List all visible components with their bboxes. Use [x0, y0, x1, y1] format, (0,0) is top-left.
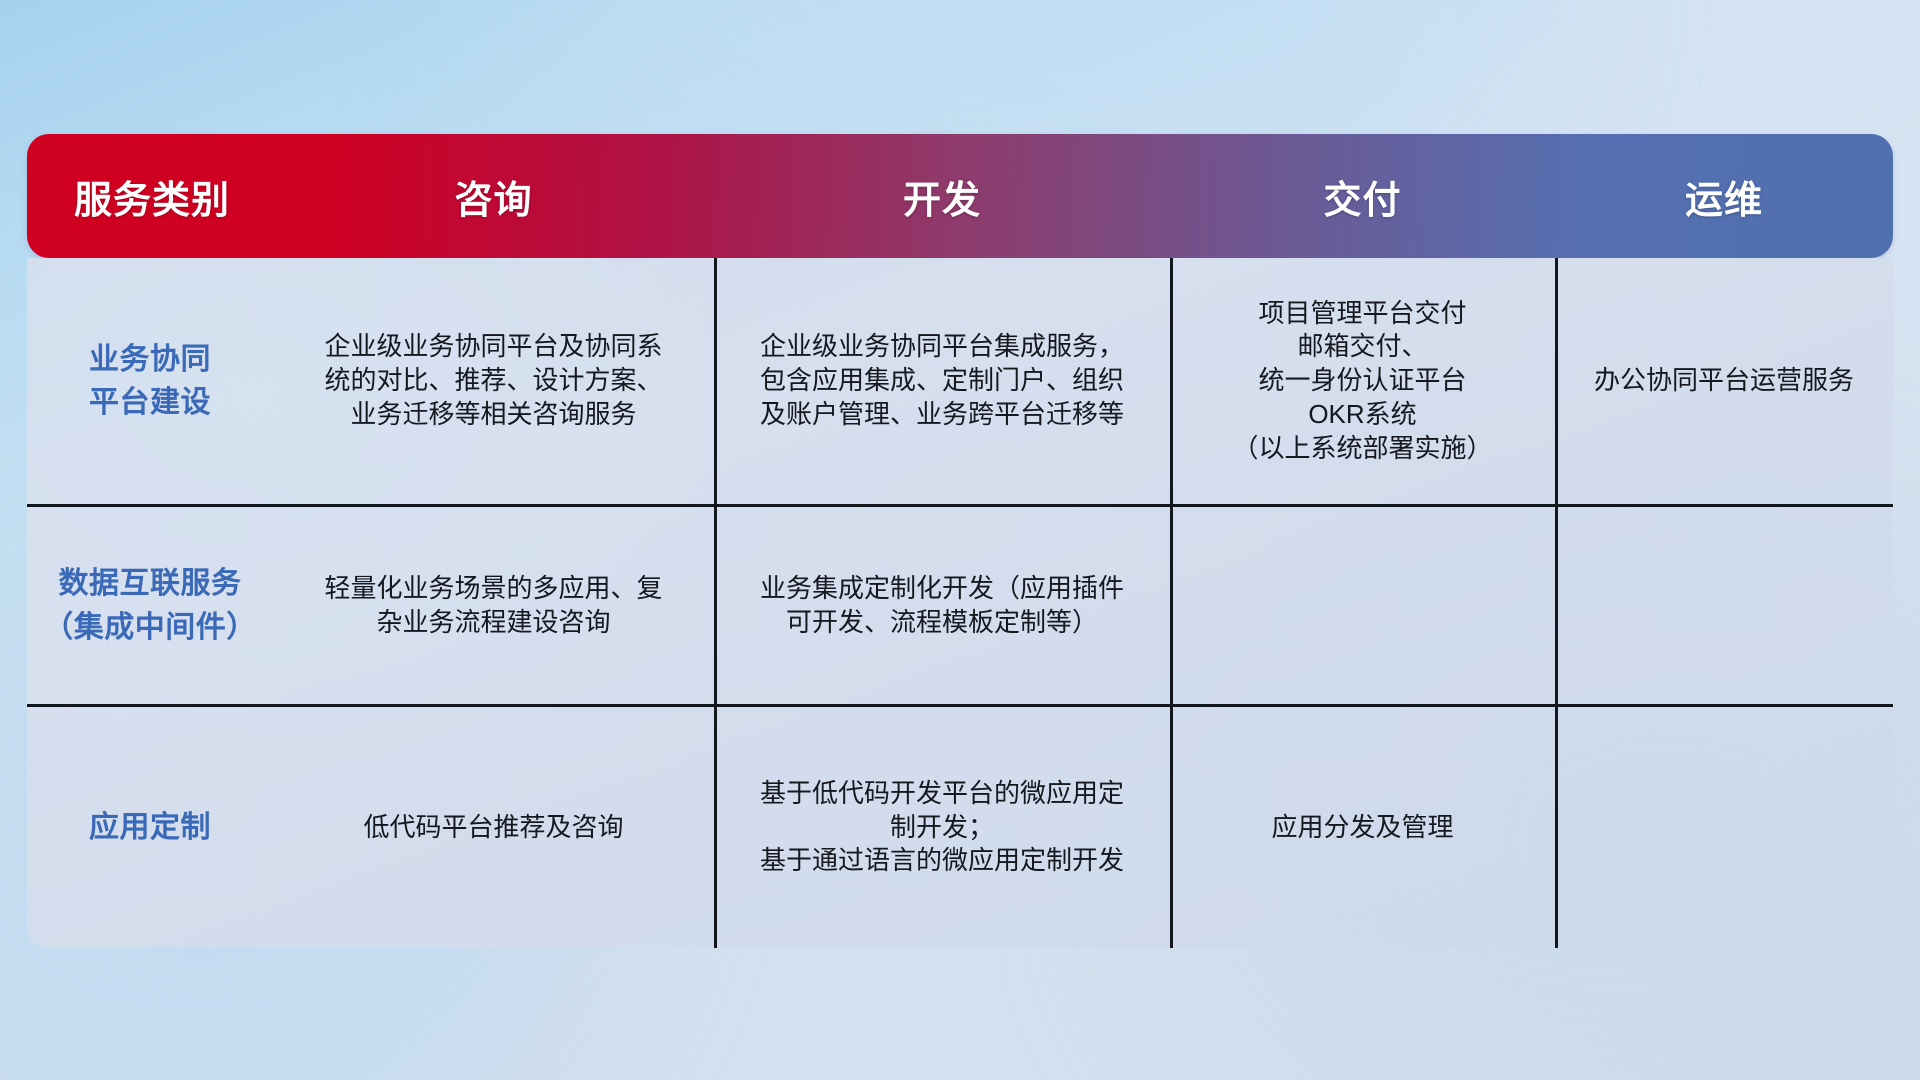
cell-category: 业务协同 平台建设: [27, 258, 273, 504]
column-header-operations: 运维: [1555, 169, 1893, 224]
cell-delivery: 应用分发及管理: [1170, 707, 1555, 948]
table-header-row: 服务类别 咨询 开发 交付 运维: [27, 134, 1893, 258]
table-row: 应用定制 低代码平台推荐及咨询 基于低代码开发平台的微应用定 制开发； 基于通过…: [27, 704, 1893, 948]
cell-operations: [1555, 707, 1893, 948]
cell-consulting: 轻量化业务场景的多应用、复 杂业务流程建设咨询: [273, 507, 714, 704]
cell-operations: 办公协同平台运营服务: [1555, 258, 1893, 504]
slide-canvas: 服务类别 咨询 开发 交付 运维 业务协同 平台建设 企业级业务协同平台及协同系…: [0, 0, 1920, 1080]
cell-consulting: 企业级业务协同平台及协同系 统的对比、推荐、设计方案、 业务迁移等相关咨询服务: [273, 258, 714, 504]
cell-category: 数据互联服务 （集成中间件）: [27, 507, 273, 704]
column-header-delivery: 交付: [1170, 169, 1555, 224]
service-matrix-table: 服务类别 咨询 开发 交付 运维 业务协同 平台建设 企业级业务协同平台及协同系…: [27, 134, 1893, 948]
column-header-category: 服务类别: [27, 169, 273, 224]
table-row: 数据互联服务 （集成中间件） 轻量化业务场景的多应用、复 杂业务流程建设咨询 业…: [27, 504, 1893, 704]
cell-delivery: [1170, 507, 1555, 704]
cell-category: 应用定制: [27, 707, 273, 948]
table-body: 业务协同 平台建设 企业级业务协同平台及协同系 统的对比、推荐、设计方案、 业务…: [27, 258, 1893, 948]
cell-delivery: 项目管理平台交付 邮箱交付、 统一身份认证平台 OKR系统 （以上系统部署实施）: [1170, 258, 1555, 504]
cell-development: 业务集成定制化开发（应用插件 可开发、流程模板定制等）: [714, 507, 1170, 704]
cell-consulting: 低代码平台推荐及咨询: [273, 707, 714, 948]
column-header-development: 开发: [714, 169, 1170, 224]
cell-operations: [1555, 507, 1893, 704]
cell-development: 企业级业务协同平台集成服务， 包含应用集成、定制门户、组织 及账户管理、业务跨平…: [714, 258, 1170, 504]
table-row: 业务协同 平台建设 企业级业务协同平台及协同系 统的对比、推荐、设计方案、 业务…: [27, 258, 1893, 504]
column-header-consulting: 咨询: [273, 169, 714, 224]
cell-development: 基于低代码开发平台的微应用定 制开发； 基于通过语言的微应用定制开发: [714, 707, 1170, 948]
